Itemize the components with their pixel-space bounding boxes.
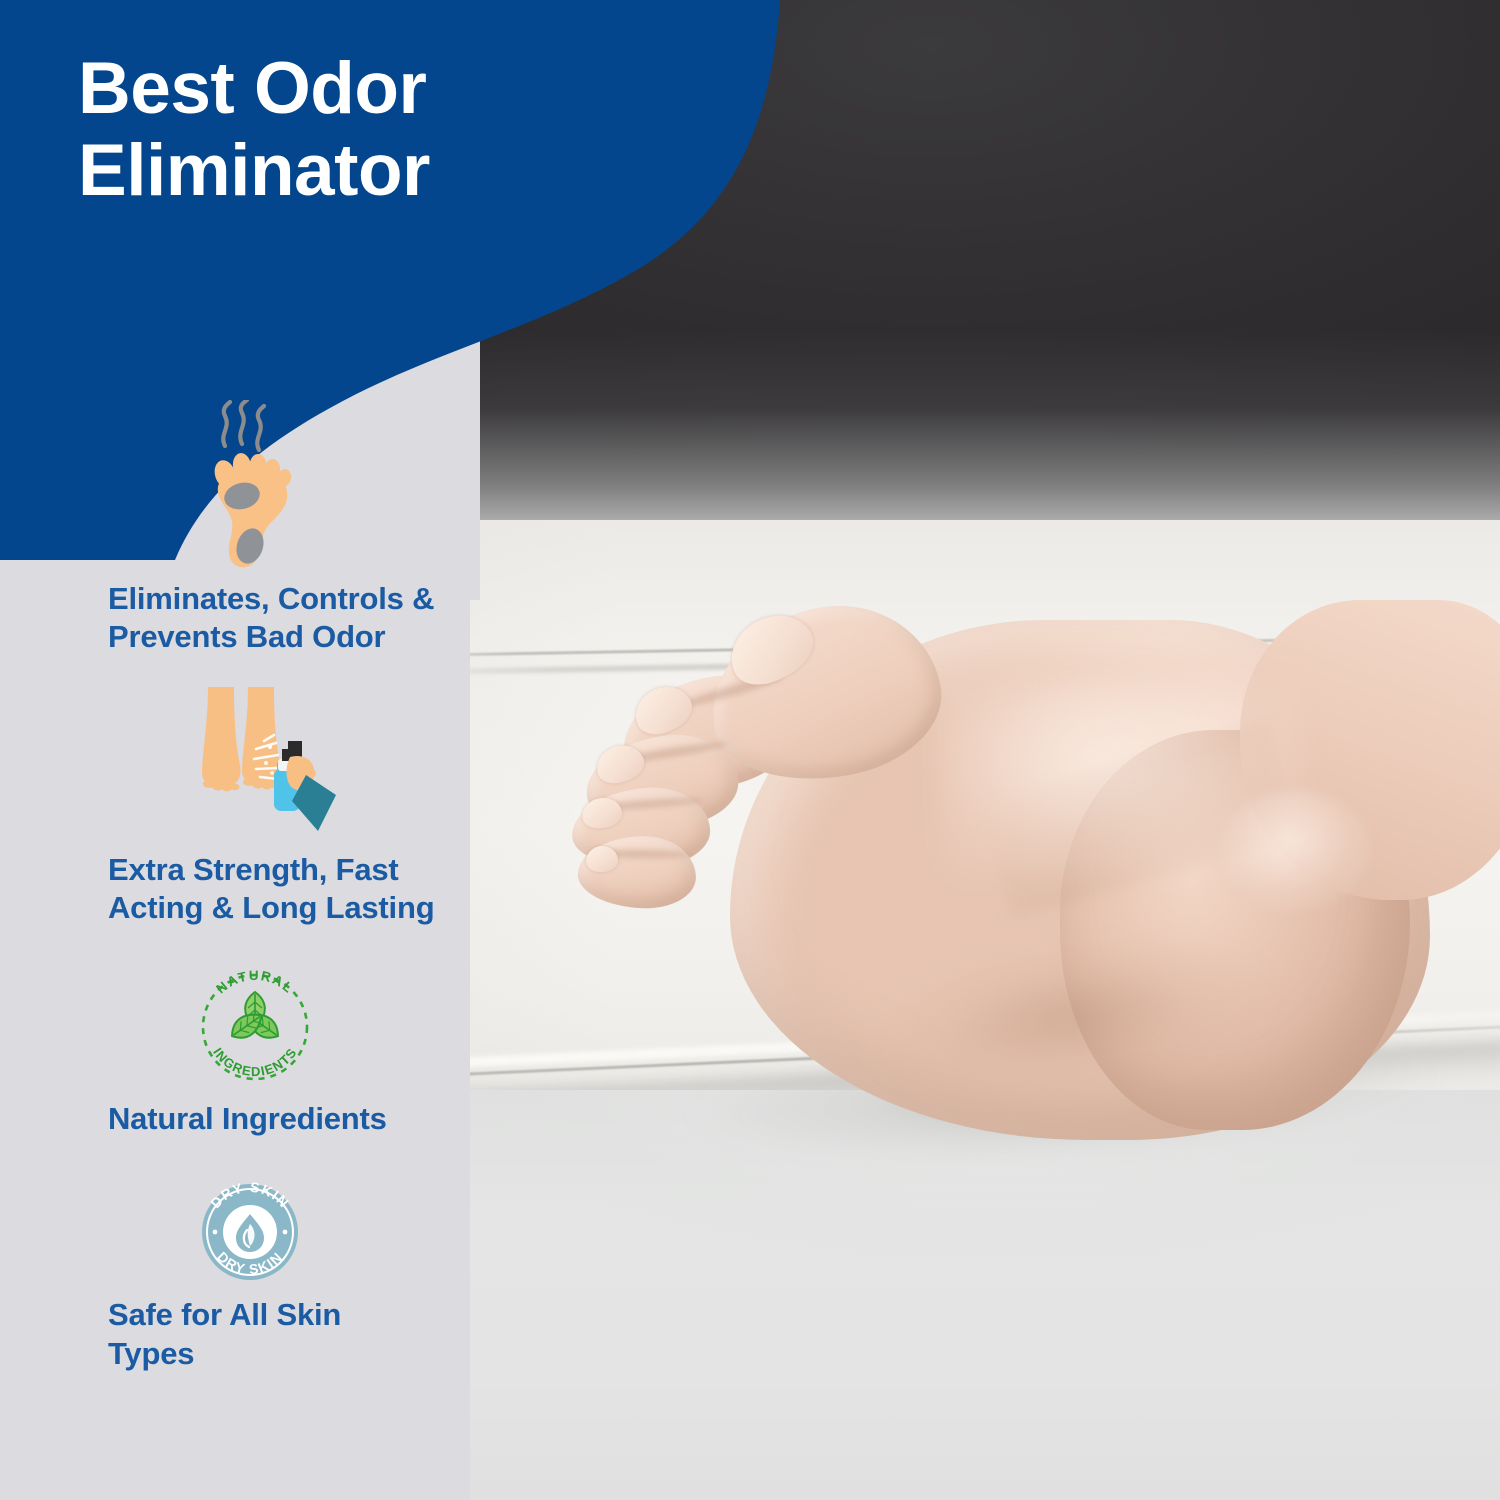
feature-item-strength: Extra Strength, Fast Acting & Long Lasti… (0, 683, 500, 928)
feature-label-natural: Natural Ingredients (108, 1100, 500, 1138)
feature-label-strength: Extra Strength, Fast Acting & Long Lasti… (108, 851, 500, 928)
feature-item-natural: NATURAL INGREDIENTS Natural Ingredients (0, 962, 500, 1138)
foot-highlight (940, 680, 1300, 880)
product-feature-image: Best Odor Eliminator (0, 0, 1500, 1500)
feature-item-safe-skin: DRY SKIN DRY SKIN Safe for All Skin Type… (0, 1176, 500, 1373)
spray-feet-icon (178, 683, 338, 843)
smelly-foot-icon (190, 400, 308, 572)
badge-bottom-text-natural: INGREDIENTS (210, 1044, 300, 1078)
natural-ingredients-badge-icon: NATURAL INGREDIENTS (190, 962, 320, 1092)
feature-label-safe-skin: Safe for All Skin Types (108, 1296, 500, 1373)
feature-list: Eliminates, Controls & Prevents Bad Odor (0, 400, 500, 1387)
feature-item-odor: Eliminates, Controls & Prevents Bad Odor (0, 400, 500, 657)
dry-skin-badge-icon: DRY SKIN DRY SKIN (194, 1176, 306, 1288)
feature-label-odor: Eliminates, Controls & Prevents Bad Odor (108, 580, 500, 657)
bare-foot-photo (560, 560, 1500, 1280)
page-title: Best Odor Eliminator (78, 48, 718, 212)
